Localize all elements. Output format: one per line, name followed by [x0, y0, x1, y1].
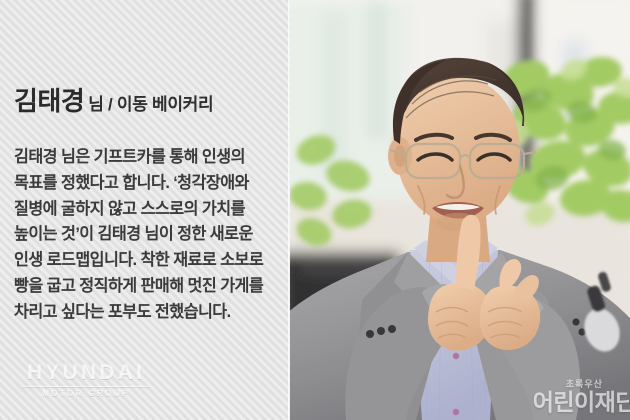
hyundai-logo-divider: [22, 386, 150, 387]
title-person-role: 님 / 이동 베이커리: [88, 95, 213, 114]
body-paragraph: 김태경 님은 기프트카를 통해 인생의 목표를 정했다고 합니다. ‘청각장애와…: [14, 145, 282, 326]
text-panel-inner: 김태경님 / 이동 베이커리 김태경 님은 기프트카를 통해 인생의 목표를 정…: [0, 0, 290, 420]
title-person-name: 김태경: [14, 86, 84, 116]
interview-card: 김태경님 / 이동 베이커리 김태경 님은 기프트카를 통해 인생의 목표를 정…: [0, 0, 630, 420]
hyundai-motor-group-logo: HYUNDAI MOTOR GROUP: [22, 362, 150, 398]
page-title: 김태경님 / 이동 베이커리: [14, 88, 213, 115]
hyundai-wordmark: HYUNDAI: [22, 362, 150, 383]
interview-photo-illustration: [290, 0, 630, 420]
text-panel: 김태경님 / 이동 베이커리 김태경 님은 기프트카를 통해 인생의 목표를 정…: [0, 0, 290, 420]
interview-photo: 초록우산 어린이재단: [290, 0, 630, 420]
hyundai-subtitle: MOTOR GROUP: [22, 390, 150, 398]
